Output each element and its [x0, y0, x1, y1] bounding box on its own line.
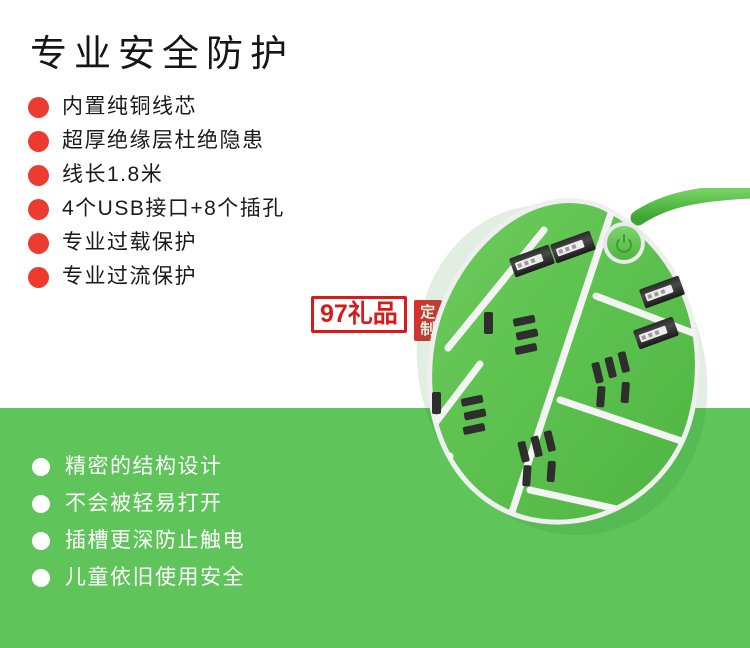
list-item: 专业过载保护	[28, 226, 428, 260]
page-title: 专业安全防护	[30, 31, 294, 77]
bullet-dot-icon	[28, 165, 49, 186]
list-item-label: 专业过流保护	[62, 265, 197, 289]
bullet-dot-icon	[28, 267, 49, 288]
bullet-dot-icon	[32, 458, 50, 476]
bullet-dot-icon	[32, 569, 50, 587]
list-item-label: 精密的结构设计	[65, 454, 223, 479]
top-feature-list: 内置纯铜线芯 超厚绝缘层杜绝隐患 线长1.8米 4个USB接口+8个插孔 专业过…	[28, 90, 428, 294]
list-item: 插槽更深防止触电	[32, 522, 452, 559]
list-item-label: 4个USB接口+8个插孔	[62, 197, 285, 221]
power-cable	[638, 191, 750, 218]
list-item-label: 专业过载保护	[62, 231, 197, 255]
list-item: 不会被轻易打开	[32, 485, 452, 522]
list-item: 专业过流保护	[28, 260, 428, 294]
list-item-label: 插槽更深防止触电	[65, 528, 245, 553]
list-item: 超厚绝缘层杜绝隐患	[28, 124, 428, 158]
bullet-dot-icon	[28, 199, 49, 220]
product-marketing-image: 专业安全防护 内置纯铜线芯 超厚绝缘层杜绝隐患 线长1.8米 4个USB接口+8…	[0, 0, 750, 648]
power-button[interactable]	[603, 222, 645, 264]
list-item: 4个USB接口+8个插孔	[28, 192, 428, 226]
list-item: 精密的结构设计	[32, 448, 452, 485]
bullet-dot-icon	[28, 233, 49, 254]
list-item-label: 超厚绝缘层杜绝隐患	[62, 129, 265, 153]
bullet-dot-icon	[32, 532, 50, 550]
list-item: 线长1.8米	[28, 158, 428, 192]
bottom-feature-list: 精密的结构设计 不会被轻易打开 插槽更深防止触电 儿童依旧使用安全	[32, 448, 452, 596]
list-item-label: 不会被轻易打开	[65, 491, 223, 516]
list-item-label: 线长1.8米	[62, 163, 163, 187]
bullet-dot-icon	[32, 495, 50, 513]
bullet-dot-icon	[28, 131, 49, 152]
list-item: 儿童依旧使用安全	[32, 559, 452, 596]
list-item-label: 内置纯铜线芯	[62, 95, 197, 119]
bullet-dot-icon	[28, 97, 49, 118]
list-item-label: 儿童依旧使用安全	[65, 565, 245, 590]
list-item: 内置纯铜线芯	[28, 90, 428, 124]
